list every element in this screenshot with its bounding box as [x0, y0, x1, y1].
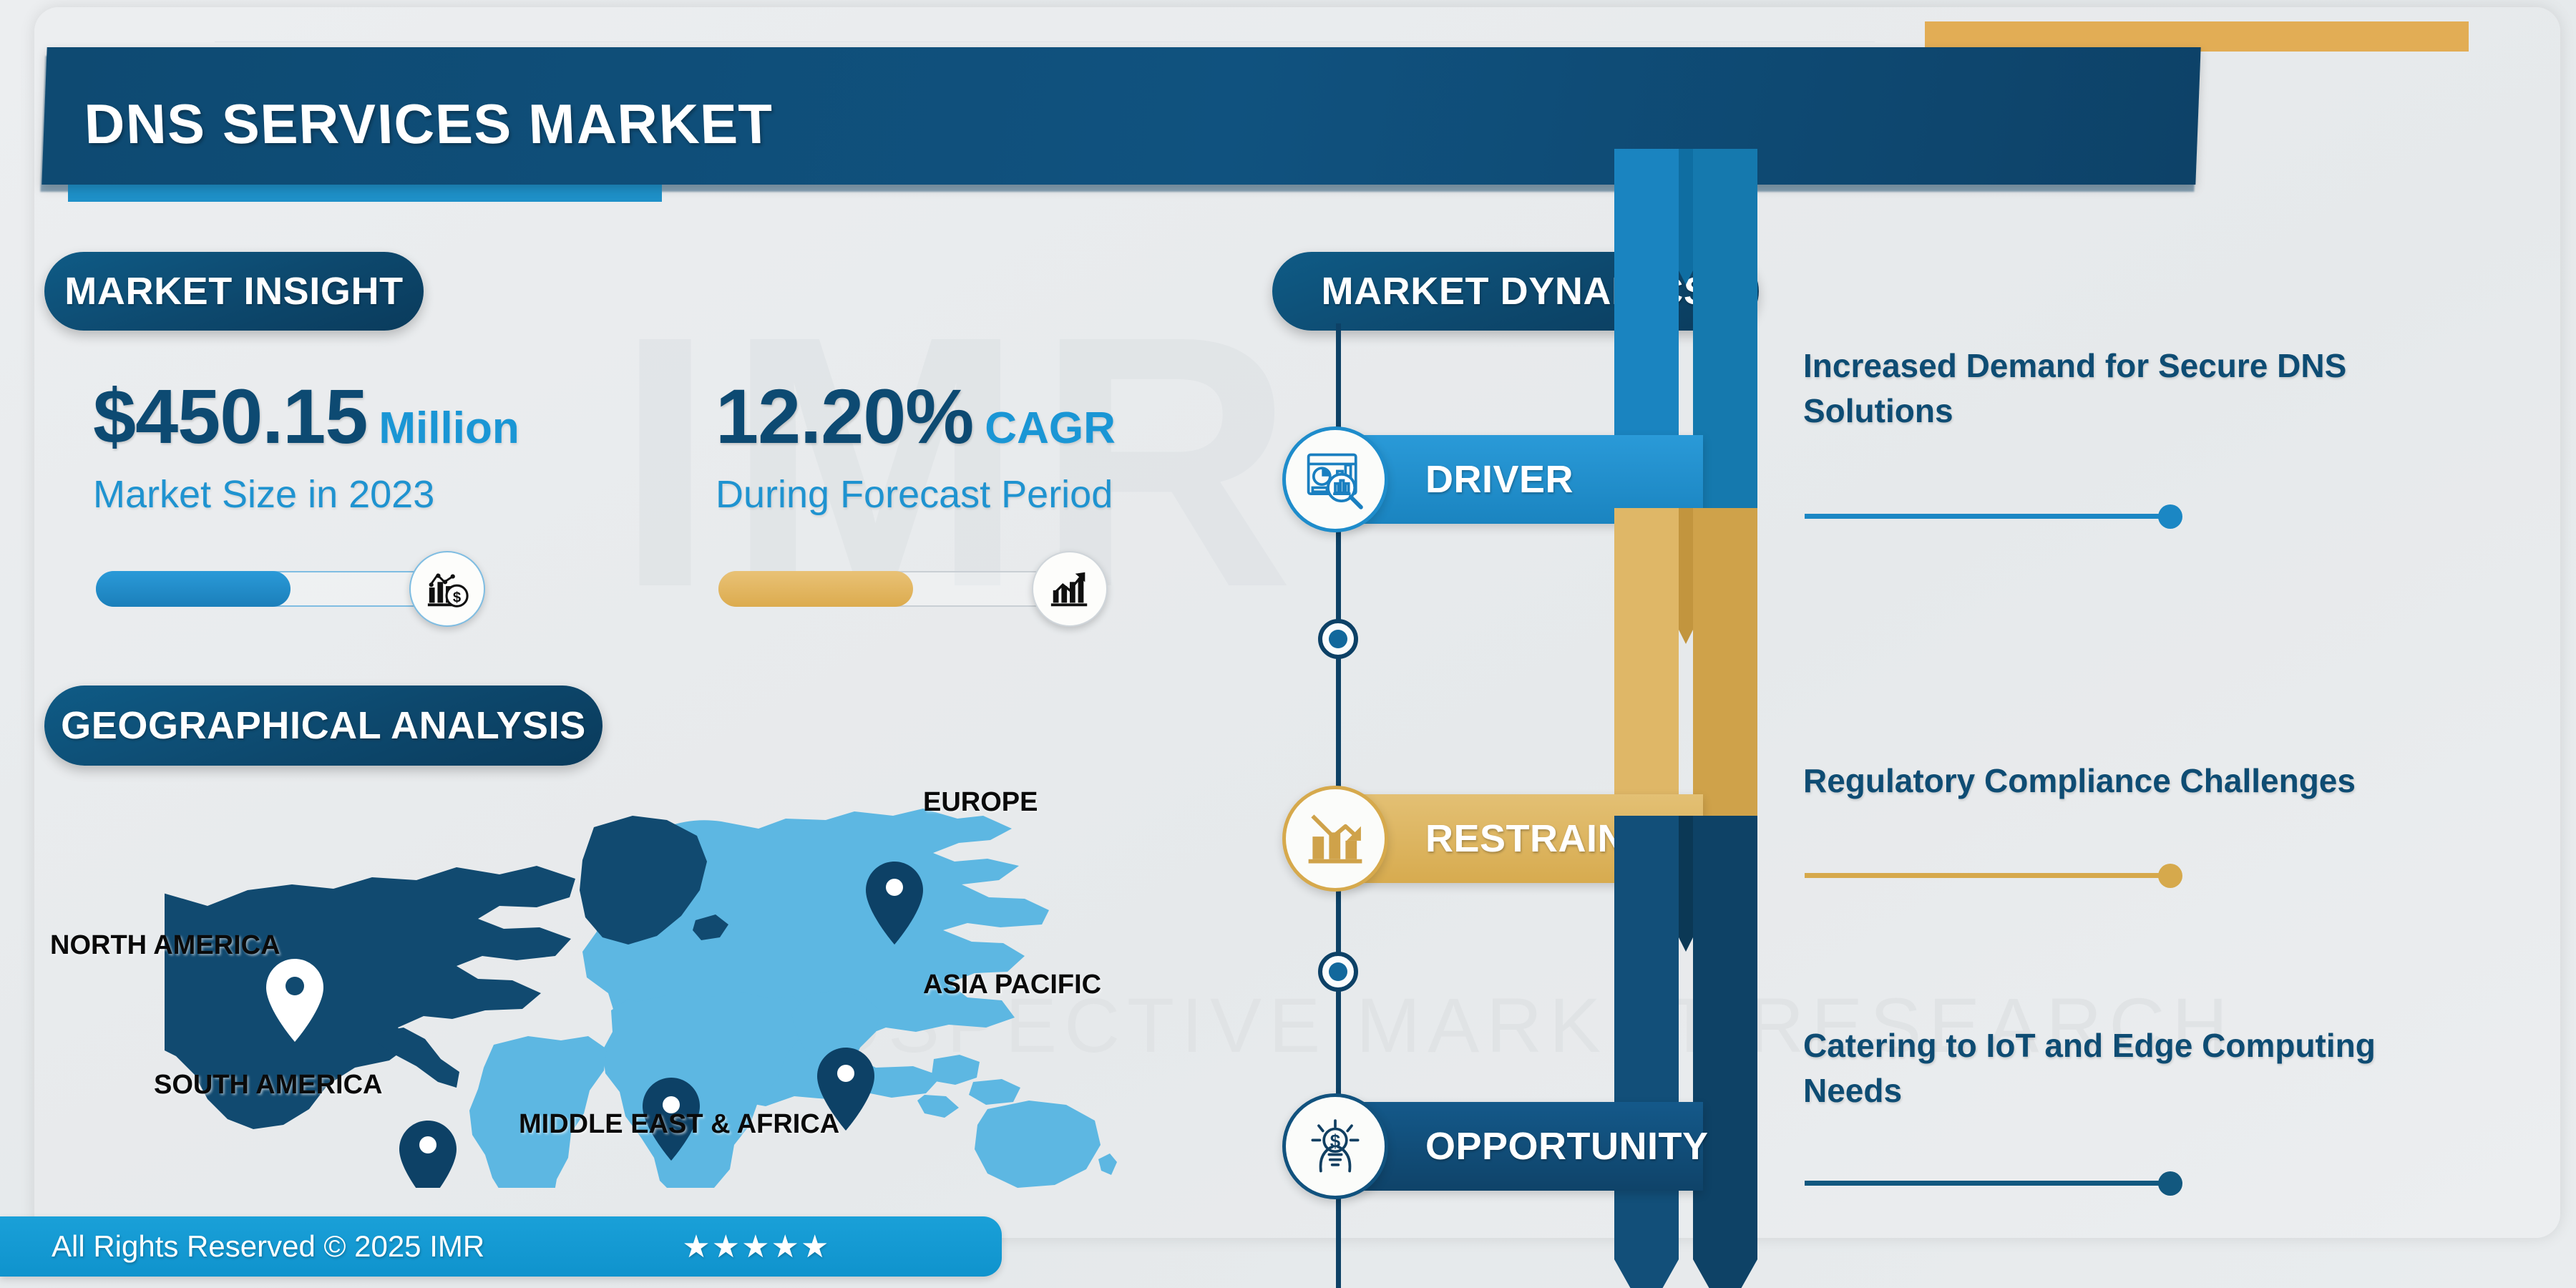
region-label-south-america: SOUTH AMERICA [154, 1070, 382, 1101]
declining-bar-chart-icon [1282, 786, 1388, 892]
cagr-progress [718, 571, 1069, 607]
geographical-analysis-label: GEOGRAPHICAL ANALYSIS [61, 703, 586, 748]
cagr-progress-fill [718, 571, 913, 607]
market-size-progress: $ [96, 571, 447, 607]
section-header-market-insight: MARKET INSIGHT [44, 252, 424, 331]
page-title: DNS SERVICES MARKET [83, 92, 775, 157]
timeline-node-1 [1318, 619, 1358, 659]
lightbulb-dollar-icon: $ [1282, 1093, 1388, 1199]
driver-leader-dot [2158, 504, 2182, 529]
market-size-progress-fill [96, 571, 291, 607]
opportunity-leader-dot [2158, 1171, 2182, 1196]
kpi-cagr: 12.20%CAGR During Forecast Period [716, 378, 1116, 517]
svg-text:$: $ [453, 590, 462, 605]
chart-analysis-magnifier-icon [1282, 426, 1388, 532]
restraint-leader-line [1805, 873, 2170, 878]
cagr-value: 12.20% [716, 378, 973, 455]
opportunity-label: OPPORTUNITY [1425, 1124, 1709, 1169]
copyright-text: All Rights Reserved © 2025 IMR [52, 1229, 484, 1264]
cagr-unit: CAGR [985, 403, 1116, 454]
driver-label: DRIVER [1425, 457, 1574, 502]
opportunity-ribbon [1614, 816, 1757, 1288]
driver-leader-line [1805, 514, 2170, 519]
footer-bar: All Rights Reserved © 2025 IMR ★★★★★ [0, 1216, 1002, 1277]
driver-description: Increased Demand for Secure DNS Solution… [1803, 343, 2419, 434]
opportunity-leader-line [1805, 1181, 2170, 1186]
region-label-north-america: NORTH AMERICA [50, 930, 280, 961]
bar-chart-dollar-icon: $ [409, 551, 485, 627]
growth-chart-arrow-icon [1032, 551, 1108, 627]
market-insight-label: MARKET INSIGHT [64, 269, 403, 313]
section-header-geographical-analysis: GEOGRAPHICAL ANALYSIS [44, 686, 602, 766]
cagr-caption: During Forecast Period [716, 472, 1116, 517]
card-hairline [215, 42, 1875, 42]
restraint-leader-dot [2158, 864, 2182, 888]
timeline-node-dot [1329, 630, 1347, 648]
infographic-canvas: IMR INTROSPECTIVE MARKET RESEARCH DNS SE… [0, 0, 2576, 1288]
region-label-asia-pacific: ASIA PACIFIC [923, 970, 1101, 1000]
kpi-market-size: $450.15Million Market Size in 2023 [93, 378, 519, 517]
restraint-description: Regulatory Compliance Challenges [1803, 758, 2447, 804]
timeline-node-2 [1318, 952, 1358, 992]
region-label-middle-east-africa: MIDDLE EAST & AFRICA [519, 1109, 839, 1140]
market-size-value: $450.15 [93, 378, 367, 455]
svg-text:$: $ [1330, 1131, 1341, 1151]
region-label-europe: EUROPE [923, 787, 1038, 818]
market-size-unit: Million [379, 403, 519, 454]
timeline-node-dot [1329, 962, 1347, 981]
rating-stars-icon: ★★★★★ [682, 1229, 830, 1265]
opportunity-description: Catering to IoT and Edge Computing Needs [1803, 1023, 2447, 1114]
market-size-caption: Market Size in 2023 [93, 472, 519, 517]
